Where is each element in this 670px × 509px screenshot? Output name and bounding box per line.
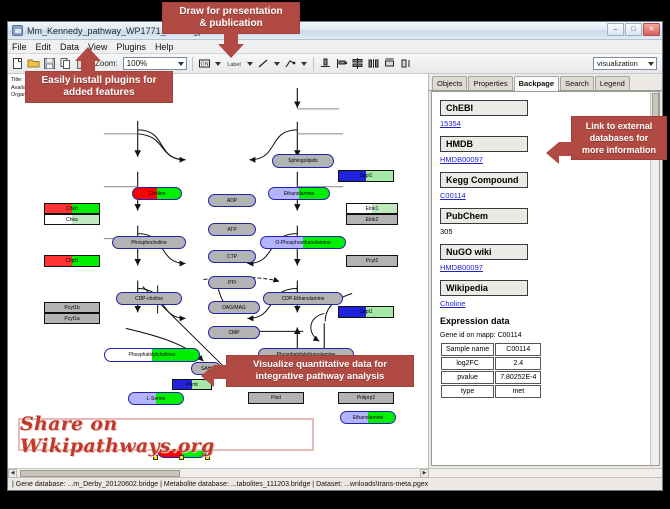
copy-icon[interactable]	[59, 57, 72, 70]
table-row: log2FC 2.4	[441, 357, 541, 370]
gene-node[interactable]: Pnliprp2	[338, 392, 394, 404]
main-body: Title: Availa Organ	[8, 74, 662, 468]
section-heading-hmdb: HMDB	[440, 136, 528, 152]
callout-visualize-arrow	[201, 365, 214, 387]
menu-item-help[interactable]: Help	[155, 42, 174, 52]
callout-link: Link to external databases for more info…	[571, 116, 667, 160]
svg-text:Label: Label	[227, 62, 240, 68]
pathway-canvas[interactable]: Title: Availa Organ	[8, 74, 429, 468]
gene-node[interactable]: Pisd	[248, 392, 304, 404]
align-left-icon[interactable]	[335, 57, 348, 70]
pathway-node-label: L-Serine	[147, 396, 166, 402]
section-heading-pubchem: PubChem	[440, 208, 528, 224]
scroll-left-icon[interactable]: ◀	[8, 469, 17, 478]
pathway-node[interactable]: Sphingolipids	[272, 154, 334, 168]
scroll-thumb[interactable]	[20, 470, 180, 477]
close-button[interactable]: ✕	[643, 23, 660, 36]
table-cell-value: C00114	[495, 343, 541, 356]
pathway-node[interactable]: DAG/MAG	[208, 301, 260, 314]
table-cell-key: Sample name	[441, 343, 494, 356]
pathway-node-label: DAG/MAG	[222, 305, 246, 311]
tab-search[interactable]: Search	[560, 76, 594, 90]
toolbar-separator	[192, 57, 193, 71]
gene-node-label: Etnk2	[366, 217, 379, 223]
callout-draw-line1: Draw for presentation	[168, 6, 294, 18]
interaction-icon[interactable]	[284, 57, 297, 70]
pathway-node[interactable]: PPi	[208, 276, 256, 289]
gene-node-label: Pemt	[186, 382, 198, 388]
table-cell-value: 2.4	[495, 357, 541, 370]
pathway-node-label: PPi	[228, 280, 236, 286]
common-height-icon[interactable]	[399, 57, 412, 70]
pathway-node[interactable]: ADP	[208, 194, 256, 207]
visualization-value: visualization	[597, 59, 638, 68]
chevron-down-icon[interactable]	[215, 62, 221, 66]
gene-node-label: Cept1	[359, 309, 372, 315]
gene-node[interactable]: Pcyt1b	[44, 302, 100, 313]
chevron-down-icon[interactable]	[301, 62, 307, 66]
gene-node[interactable]: Pcyt1a	[44, 313, 100, 324]
table-cell-value: 7.80252E-4	[495, 371, 541, 384]
nugo-link[interactable]: HMDB00097	[440, 263, 659, 272]
section-heading-nugo: NuGO wiki	[440, 244, 528, 260]
gene-node[interactable]: Etnk1	[346, 203, 398, 214]
svg-text:GN: GN	[200, 62, 208, 68]
gene-node[interactable]: Chkb	[44, 203, 100, 214]
pathway-node[interactable]: CDP-Ethanolamine	[263, 292, 343, 305]
callout-draw: Draw for presentation & publication	[162, 2, 300, 34]
callout-plugins: Easily install plugins for added feature…	[25, 71, 173, 103]
callout-plugins-line1: Easily install plugins for	[31, 75, 167, 87]
pathway-node-label: ADP	[227, 198, 237, 204]
gene-node-label: Pcyt2	[366, 258, 379, 264]
pathway-graph[interactable]	[8, 74, 428, 468]
common-width-icon[interactable]	[383, 57, 396, 70]
callout-plugins-arrow-stem	[81, 60, 95, 72]
pathway-node-label: Phosphatidylcholines	[129, 352, 176, 358]
chevron-down-icon	[648, 62, 654, 66]
canvas-horizontal-scrollbar[interactable]: ◀ ▶	[8, 468, 662, 477]
pathway-node[interactable]: Choline	[132, 187, 182, 200]
pathway-node[interactable]: L-Serine	[128, 392, 184, 405]
toolbar-separator	[313, 57, 314, 71]
pathway-node-label: Ethanolamine	[353, 415, 384, 421]
callout-visualize: Visualize quantitative data for integrat…	[226, 355, 414, 387]
section-heading-wikipedia: Wikipedia	[440, 280, 528, 296]
gene-node-label: Pcyt1b	[64, 305, 79, 311]
callout-link-line3: more information	[577, 144, 661, 156]
gene-node[interactable]: Sgpl1	[338, 170, 394, 182]
gene-node-label: Chka	[66, 217, 78, 223]
pathway-node-label: Sphingolipids	[288, 158, 318, 164]
callout-plugins-line2: added features	[31, 87, 167, 99]
gene-node-label: Pcyt1a	[64, 316, 79, 322]
line-icon[interactable]	[257, 57, 270, 70]
callout-visualize-line2: integrative pathway analysis	[232, 371, 408, 383]
pathway-node[interactable]: O-Phosphoethanolamine	[260, 236, 346, 249]
backpage-section: PubChem 305	[440, 206, 659, 236]
pathway-node-label: CTP	[227, 254, 237, 260]
expression-table-body: Sample name C00114 log2FC 2.4 pvalue 7.8…	[441, 343, 541, 398]
callout-link-arrow-stem	[559, 142, 573, 156]
pathway-node-label: Choline	[149, 191, 166, 197]
side-panel-tabs: Objects Properties Backpage Search Legen…	[429, 76, 662, 91]
pathway-node-label: O-Phosphoethanolamine	[275, 240, 330, 246]
gene-node[interactable]: Cept1	[338, 306, 394, 318]
pathway-node-label: CDP-Ethanolamine	[282, 296, 325, 302]
gene-id-line: Gene id on mapp: C00114	[440, 332, 659, 339]
status-text: | Gene database: ...m_Derby_20120602.bri…	[12, 481, 428, 488]
pubchem-value: 305	[440, 227, 659, 236]
wikipedia-link[interactable]: Choline	[440, 299, 659, 308]
align-top-icon[interactable]	[319, 57, 332, 70]
table-row: type met	[441, 385, 541, 398]
menu-item-file[interactable]: File	[12, 42, 27, 52]
title-bar: Mm_Kennedy_pathway_WP1771_45176.gpml – □…	[8, 22, 662, 40]
chevron-down-icon[interactable]	[274, 62, 280, 66]
pathway-node[interactable]: CTP	[208, 250, 256, 263]
pathway-node[interactable]: CDP-choline	[116, 292, 182, 305]
callout-visualize-arrow-stem	[214, 365, 228, 379]
scroll-right-icon[interactable]: ▶	[420, 469, 429, 478]
backpage-section: Wikipedia Choline	[440, 278, 659, 308]
pathway-node[interactable]: Phosphatidylcholines	[104, 348, 200, 362]
callout-draw-arrow	[218, 44, 244, 58]
callout-visualize-line1: Visualize quantitative data for	[232, 359, 408, 371]
status-bar: | Gene database: ...m_Derby_20120602.bri…	[8, 477, 662, 490]
save-disk-icon[interactable]	[43, 57, 56, 70]
pathway-node[interactable]: ATP	[208, 223, 256, 236]
new-document-icon[interactable]	[11, 57, 24, 70]
table-cell-key: pvalue	[441, 371, 494, 384]
callout-plugins-arrow	[75, 47, 101, 61]
pathway-node[interactable]: CMP	[208, 326, 260, 339]
table-row: Sample name C00114	[441, 343, 541, 356]
meta-organism-label: Organ	[11, 92, 26, 100]
table-cell-key: type	[441, 385, 494, 398]
share-banner: Share on Wikipathways.org	[18, 418, 314, 451]
distribute-icon[interactable]	[367, 57, 380, 70]
maximize-button[interactable]: □	[625, 23, 642, 36]
callout-link-line2: databases for	[577, 132, 661, 144]
gene-node-label: Sgpl1	[360, 173, 373, 179]
gene-node-label: Chpt1	[65, 258, 78, 264]
open-folder-icon[interactable]	[27, 57, 40, 70]
section-heading-chebi: ChEBI	[440, 100, 528, 116]
menu-item-edit[interactable]: Edit	[36, 42, 52, 52]
chevron-down-icon	[178, 62, 184, 66]
zoom-combobox[interactable]: 100%	[123, 57, 187, 70]
tab-backpage[interactable]: Backpage	[514, 76, 559, 91]
meta-availability-label: Availa	[11, 85, 26, 93]
table-cell-key: log2FC	[441, 357, 494, 370]
label-icon[interactable]: Label	[225, 57, 243, 70]
canvas-metadata: Title: Availa Organ	[11, 77, 26, 100]
table-row: pvalue 7.80252E-4	[441, 371, 541, 384]
gene-node[interactable]: Chpt1	[44, 255, 100, 267]
minimize-button[interactable]: –	[607, 23, 624, 36]
zoom-value: 100%	[127, 59, 147, 68]
kegg-link[interactable]: C00114	[440, 191, 659, 200]
pathway-node-label: CMP	[228, 330, 239, 336]
tab-properties[interactable]: Properties	[468, 76, 512, 90]
datanode-icon[interactable]: GN	[198, 57, 211, 70]
expression-data-heading: Expression data	[440, 316, 659, 326]
gene-node[interactable]: Chka	[44, 214, 100, 225]
backpage-section: NuGO wiki HMDB00097	[440, 242, 659, 272]
pathway-node[interactable]: Phosphocholine	[112, 236, 186, 249]
chevron-down-icon[interactable]	[247, 62, 253, 66]
tab-legend[interactable]: Legend	[595, 76, 630, 90]
pathvisio-icon	[12, 25, 23, 36]
callout-link-line1: Link to external	[577, 120, 661, 132]
callout-link-arrow	[546, 142, 559, 164]
share-text: Share on Wikipathways.org	[20, 413, 312, 457]
menu-item-plugins[interactable]: Plugins	[116, 42, 146, 52]
section-heading-kegg: Kegg Compound	[440, 172, 528, 188]
backpage-section: Kegg Compound C00114	[440, 170, 659, 200]
pathway-node[interactable]: Ethanolamine	[268, 187, 330, 200]
table-cell-value: met	[495, 385, 541, 398]
gene-node-label: Etnk1	[366, 206, 379, 212]
pathway-node[interactable]: Ethanolamine	[340, 411, 396, 424]
visualization-combobox[interactable]: visualization	[593, 57, 657, 70]
gene-node[interactable]: Etnk2	[346, 214, 398, 225]
pathway-node-label: Ethanolamine	[284, 191, 315, 197]
pathway-node-label: ATP	[227, 227, 236, 233]
gene-node-label: Pnliprp2	[357, 395, 375, 401]
expression-table: Sample name C00114 log2FC 2.4 pvalue 7.8…	[440, 342, 542, 399]
meta-title-label: Title:	[11, 77, 26, 85]
tab-objects[interactable]: Objects	[432, 76, 467, 90]
stack-icon[interactable]	[351, 57, 364, 70]
menu-bar: File Edit Data View Plugins Help	[8, 40, 662, 54]
callout-draw-line2: & publication	[168, 18, 294, 30]
gene-node-label: Chkb	[66, 206, 78, 212]
gene-node[interactable]: Pcyt2	[346, 255, 398, 267]
window-buttons: – □ ✕	[607, 23, 660, 36]
gene-node-label: Pisd	[271, 395, 281, 401]
pathway-node-label: Phosphocholine	[131, 240, 167, 246]
pathway-node-label: CDP-choline	[135, 296, 163, 302]
